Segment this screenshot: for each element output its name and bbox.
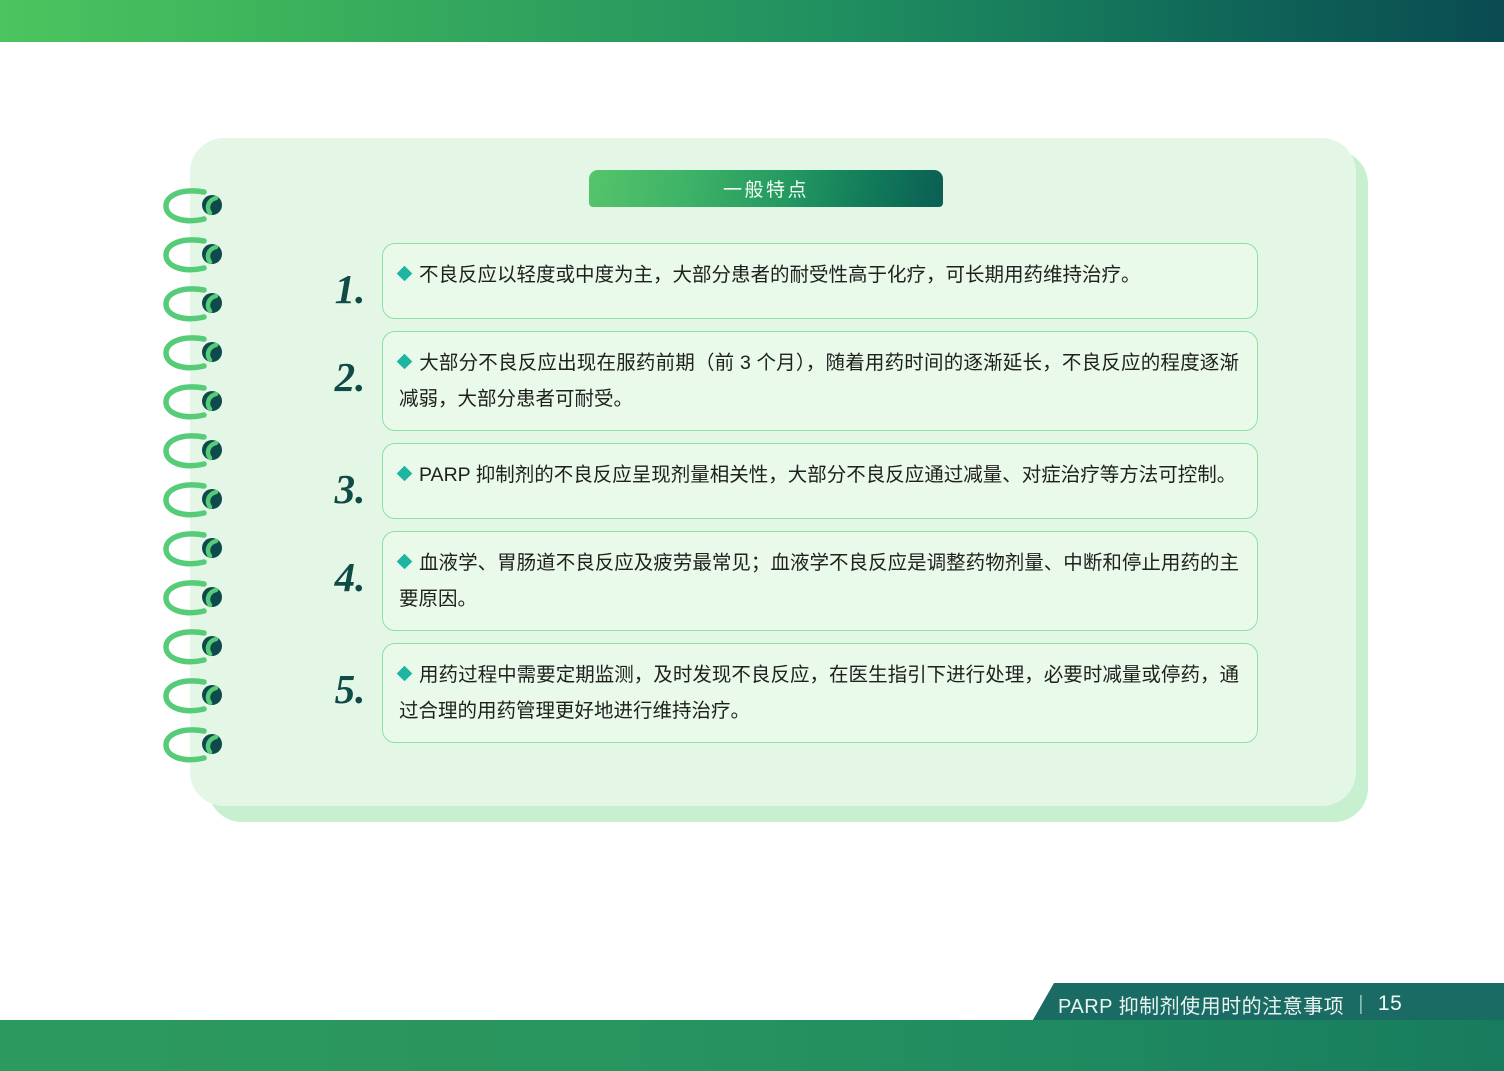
list-item-box: 用药过程中需要定期监测，及时发现不良反应，在医生指引下进行处理，必要时减量或停药… (382, 643, 1258, 743)
diamond-bullet-icon (397, 354, 413, 370)
spiral-ring-icon (160, 431, 232, 471)
section-banner-title: 一般特点 (723, 175, 809, 202)
diamond-bullet-icon (397, 554, 413, 570)
spiral-ring-icon (160, 725, 232, 765)
bottom-gradient-bar (0, 1020, 1504, 1071)
list-item-number: 5. (318, 643, 382, 710)
spiral-binding (160, 186, 240, 746)
spiral-ring-icon (160, 578, 232, 618)
diamond-bullet-icon (397, 266, 413, 282)
list-item: 2.大部分不良反应出现在服药前期（前 3 个月），随着用药时间的逐渐延长，不良反… (318, 331, 1258, 431)
list-item-text: 不良反应以轻度或中度为主，大部分患者的耐受性高于化疗，可长期用药维持治疗。 (419, 264, 1141, 286)
spiral-ring-icon (160, 627, 232, 667)
list-item: 1.不良反应以轻度或中度为主，大部分患者的耐受性高于化疗，可长期用药维持治疗。 (318, 243, 1258, 319)
spiral-ring-icon (160, 480, 232, 520)
list-item-box: 大部分不良反应出现在服药前期（前 3 个月），随着用药时间的逐渐延长，不良反应的… (382, 331, 1258, 431)
spiral-ring-icon (160, 284, 232, 324)
list-item-number: 2. (318, 331, 382, 398)
spiral-ring-icon (160, 235, 232, 275)
list-item-text-wrap: 用药过程中需要定期监测，及时发现不良反应，在医生指引下进行处理，必要时减量或停药… (399, 657, 1239, 729)
footer-separator: | (1358, 993, 1364, 1016)
list-item-text-wrap: 大部分不良反应出现在服药前期（前 3 个月），随着用药时间的逐渐延长，不良反应的… (399, 345, 1239, 417)
spiral-ring-icon (160, 676, 232, 716)
list-item-text-wrap: 不良反应以轻度或中度为主，大部分患者的耐受性高于化疗，可长期用药维持治疗。 (399, 257, 1141, 293)
list-item-number: 1. (318, 243, 382, 310)
footer-page-number: 15 (1378, 992, 1402, 1016)
spiral-ring-icon (160, 382, 232, 422)
spiral-ring-icon (160, 529, 232, 569)
feature-list: 1.不良反应以轻度或中度为主，大部分患者的耐受性高于化疗，可长期用药维持治疗。2… (318, 243, 1258, 755)
footer: PARP 抑制剂使用时的注意事项 | 15 (1058, 983, 1402, 1025)
list-item-text-wrap: PARP 抑制剂的不良反应呈现剂量相关性，大部分不良反应通过减量、对症治疗等方法… (399, 457, 1236, 493)
list-item-text: 用药过程中需要定期监测，及时发现不良反应，在医生指引下进行处理，必要时减量或停药… (399, 664, 1239, 722)
list-item-number: 3. (318, 443, 382, 510)
list-item-text: 血液学、胃肠道不良反应及疲劳最常见；血液学不良反应是调整药物剂量、中断和停止用药… (399, 552, 1239, 610)
list-item-number: 4. (318, 531, 382, 598)
list-item-box: PARP 抑制剂的不良反应呈现剂量相关性，大部分不良反应通过减量、对症治疗等方法… (382, 443, 1258, 519)
list-item: 3.PARP 抑制剂的不良反应呈现剂量相关性，大部分不良反应通过减量、对症治疗等… (318, 443, 1258, 519)
list-item-text: PARP 抑制剂的不良反应呈现剂量相关性，大部分不良反应通过减量、对症治疗等方法… (419, 464, 1236, 486)
spiral-ring-icon (160, 333, 232, 373)
section-banner: 一般特点 (589, 170, 943, 207)
page-root: 一般特点 1.不良反应以轻度或中度为主，大部分患者的耐受性高于化疗，可长期用药维… (0, 0, 1504, 1071)
top-gradient-bar (0, 0, 1504, 42)
list-item: 4.血液学、胃肠道不良反应及疲劳最常见；血液学不良反应是调整药物剂量、中断和停止… (318, 531, 1258, 631)
list-item: 5.用药过程中需要定期监测，及时发现不良反应，在医生指引下进行处理，必要时减量或… (318, 643, 1258, 743)
spiral-ring-icon (160, 186, 232, 226)
footer-title: PARP 抑制剂使用时的注意事项 (1058, 990, 1344, 1019)
diamond-bullet-icon (397, 466, 413, 482)
list-item-text: 大部分不良反应出现在服药前期（前 3 个月），随着用药时间的逐渐延长，不良反应的… (399, 352, 1239, 410)
list-item-box: 血液学、胃肠道不良反应及疲劳最常见；血液学不良反应是调整药物剂量、中断和停止用药… (382, 531, 1258, 631)
list-item-box: 不良反应以轻度或中度为主，大部分患者的耐受性高于化疗，可长期用药维持治疗。 (382, 243, 1258, 319)
list-item-text-wrap: 血液学、胃肠道不良反应及疲劳最常见；血液学不良反应是调整药物剂量、中断和停止用药… (399, 545, 1239, 617)
diamond-bullet-icon (397, 666, 413, 682)
